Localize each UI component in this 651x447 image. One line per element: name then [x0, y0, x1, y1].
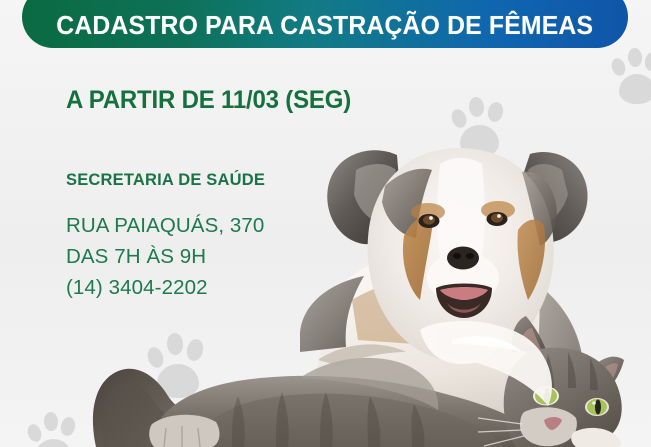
address-line-street: RUA PAIAQUÁS, 370	[66, 210, 363, 241]
department-name: SECRETARIA DE SAÚDE	[66, 171, 363, 190]
address-block: RUA PAIAQUÁS, 370 DAS 7H ÀS 9H (14) 3404…	[66, 210, 363, 303]
address-line-phone: (14) 3404-2202	[66, 272, 363, 303]
headline-start-date: A PARTIR DE 11/03 (SEG)	[66, 86, 351, 115]
header-banner: CADASTRO PARA CASTRAÇÃO DE FÊMEAS	[22, 0, 628, 48]
banner-title: CADASTRO PARA CASTRAÇÃO DE FÊMEAS	[57, 12, 594, 41]
address-line-hours: DAS 7H ÀS 9H	[66, 241, 363, 272]
info-block: A PARTIR DE 11/03 (SEG) SECRETARIA DE SA…	[66, 86, 363, 303]
poster-canvas: CADASTRO PARA CASTRAÇÃO DE FÊMEAS A PART…	[0, 0, 651, 447]
